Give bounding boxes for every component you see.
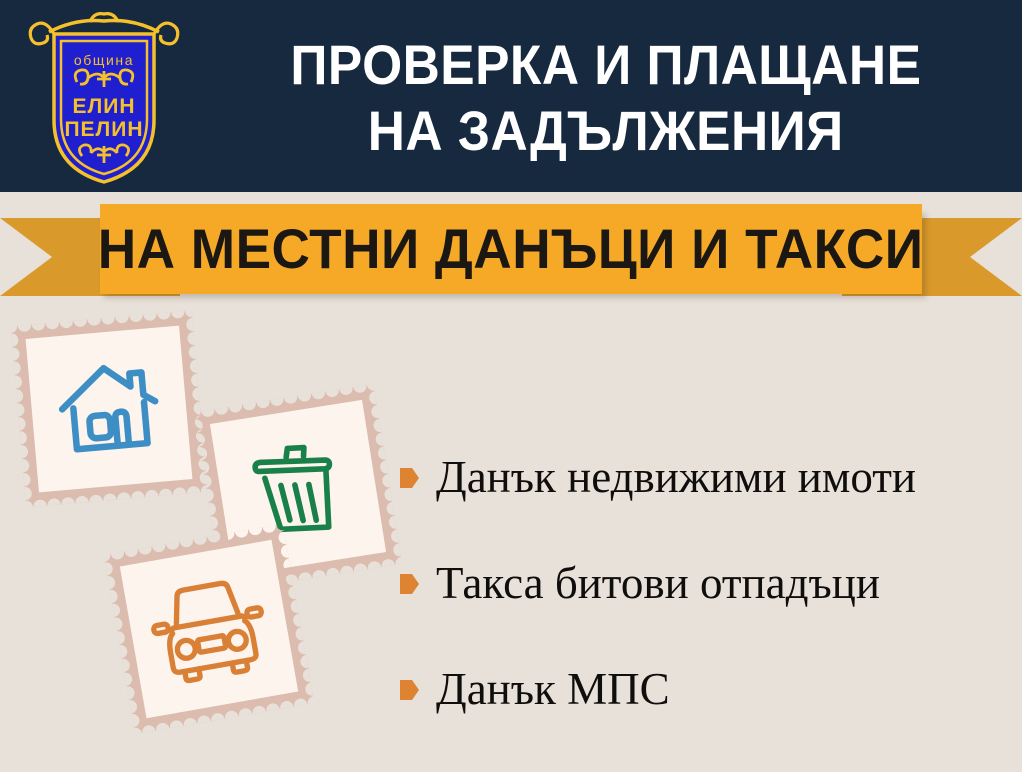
- list-item[interactable]: Такса битови отпадъци: [398, 530, 1008, 636]
- tax-type-list: Данък недвижими имоти Такса битови отпад…: [398, 424, 1008, 742]
- svg-text:община: община: [74, 52, 134, 68]
- list-item[interactable]: Данък недвижими имоти: [398, 424, 1008, 530]
- poster-root: община ЕЛИН ПЕЛИН: [0, 0, 1022, 772]
- page-title-line-1: ПРОВЕРКА И ПЛАЩАНЕ: [291, 32, 922, 98]
- stamp-card-car: [104, 524, 315, 735]
- svg-text:ЕЛИН: ЕЛИН: [72, 95, 135, 118]
- stamp-card-house: [10, 310, 207, 507]
- svg-text:ПЕЛИН: ПЕЛИН: [64, 118, 143, 141]
- arrow-bullet-icon: [398, 465, 420, 491]
- subtitle-ribbon: НА МЕСТНИ ДАНЪЦИ И ТАКСИ: [0, 196, 1022, 306]
- ribbon-text: НА МЕСТНИ ДАНЪЦИ И ТАКСИ: [98, 219, 924, 279]
- list-item-label: Данък МПС: [436, 664, 670, 714]
- arrow-bullet-icon: [398, 571, 420, 597]
- arrow-bullet-icon: [398, 677, 420, 703]
- municipality-logo: община ЕЛИН ПЕЛИН: [24, 8, 184, 188]
- poster-header: община ЕЛИН ПЕЛИН: [0, 0, 1022, 192]
- car-front-icon: [104, 524, 315, 735]
- header-title-block: ПРОВЕРКА И ПЛАЩАНЕ НА ЗАДЪЛЖЕНИЯ: [190, 0, 1022, 192]
- coat-of-arms-icon: община ЕЛИН ПЕЛИН: [24, 8, 184, 188]
- list-item[interactable]: Данък МПС: [398, 636, 1008, 742]
- list-item-label: Данък недвижими имоти: [436, 452, 916, 502]
- ribbon-banner: НА МЕСТНИ ДАНЪЦИ И ТАКСИ: [100, 204, 922, 294]
- list-item-label: Такса битови отпадъци: [436, 558, 880, 608]
- house-icon: [10, 310, 207, 507]
- page-title-line-2: НА ЗАДЪЛЖЕНИЯ: [368, 98, 844, 164]
